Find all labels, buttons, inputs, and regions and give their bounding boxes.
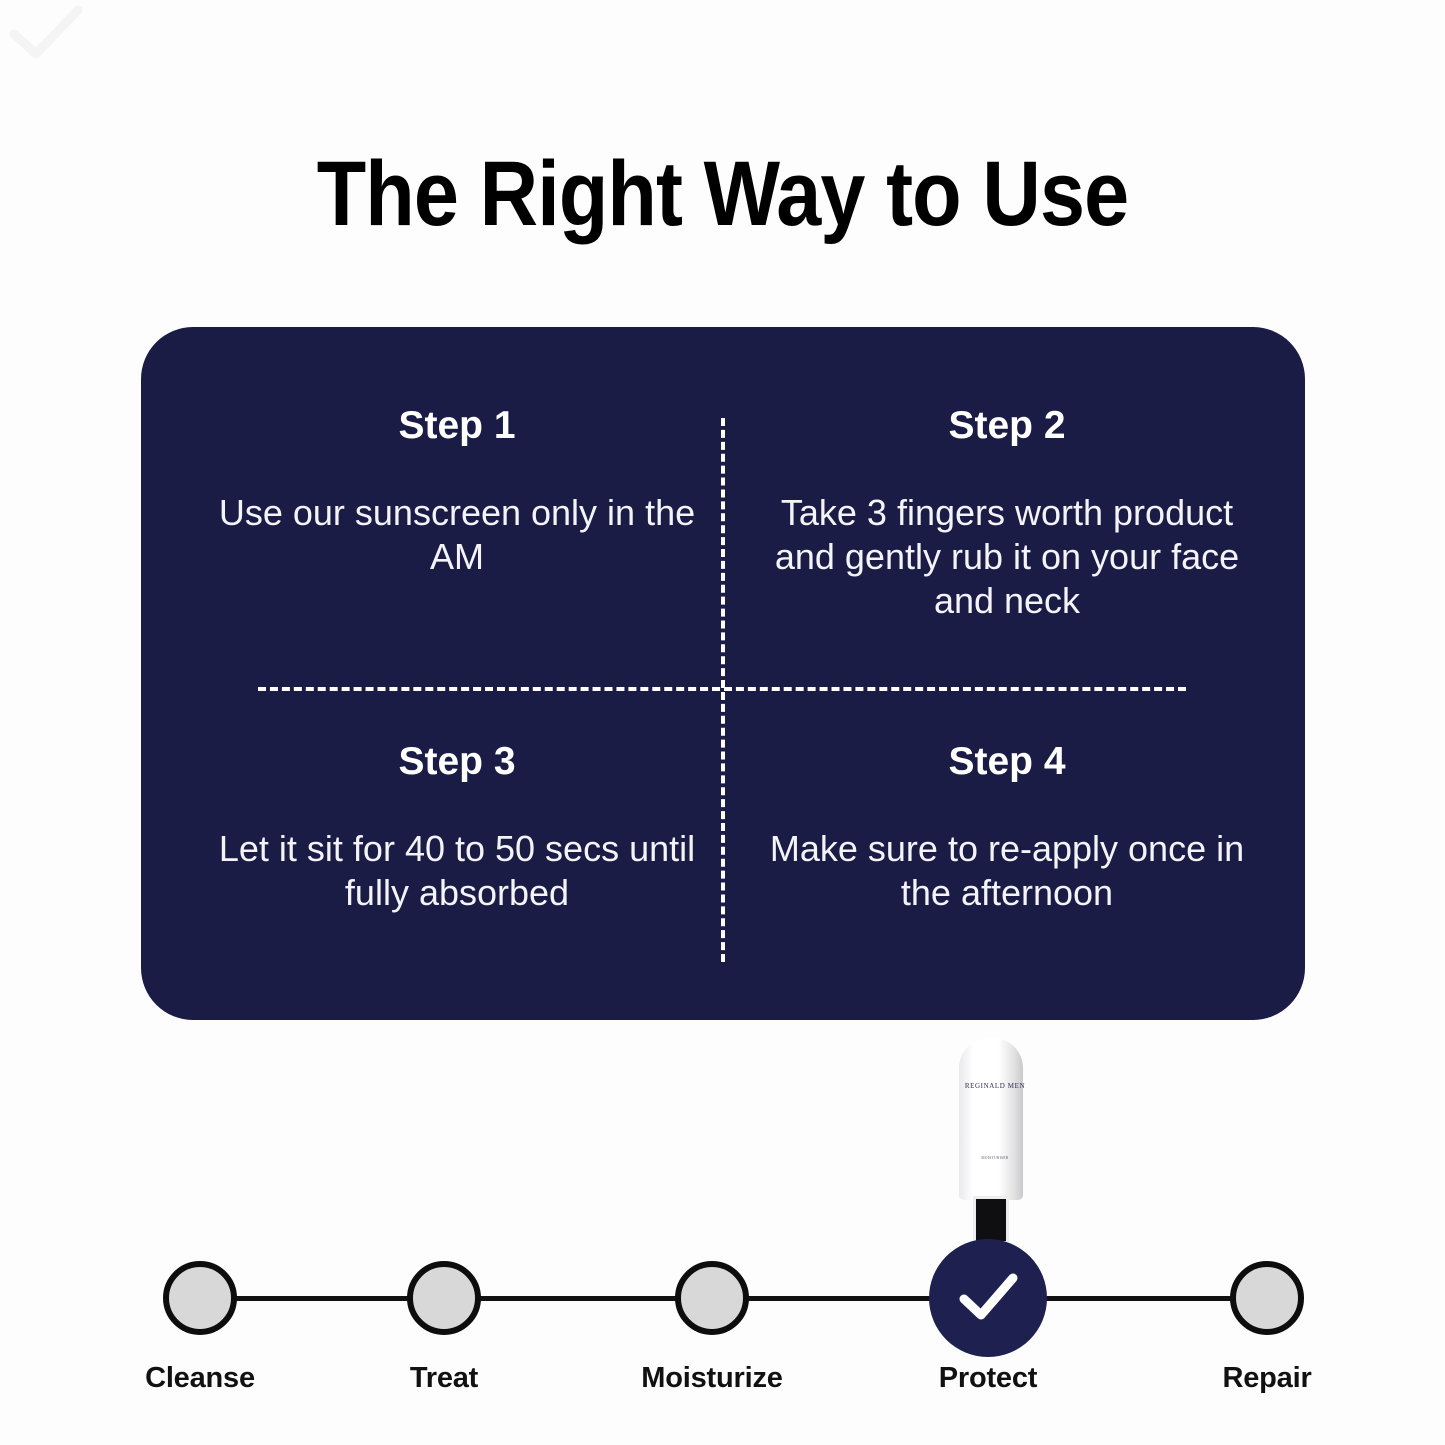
- step-2-body: Take 3 fingers worth product and gently …: [757, 491, 1257, 623]
- check-watermark-icon: [8, 4, 84, 66]
- tube-body: REGINALD MEN MOISTURISER: [959, 1038, 1023, 1200]
- routine-node-moisturize[interactable]: [675, 1261, 749, 1335]
- step-card-1: Step 1 Use our sunscreen only in the AM: [207, 403, 707, 579]
- routine-node-repair[interactable]: [1230, 1261, 1304, 1335]
- routine-label-moisturize: Moisturize: [562, 1362, 862, 1395]
- infographic-page: The Right Way to Use Step 1 Use our suns…: [0, 0, 1445, 1445]
- step-card-4: Step 4 Make sure to re-apply once in the…: [757, 739, 1257, 915]
- step-1-title: Step 1: [207, 403, 707, 449]
- routine-node-protect[interactable]: [929, 1239, 1047, 1357]
- check-icon: [955, 1270, 1021, 1326]
- routine-progress-bar: Cleanse Treat Moisturize Protect Repair: [0, 1250, 1445, 1420]
- step-4-title: Step 4: [757, 739, 1257, 785]
- step-card-2: Step 2 Take 3 fingers worth product and …: [757, 403, 1257, 623]
- product-tube-image: REGINALD MEN MOISTURISER: [955, 1038, 1027, 1238]
- routine-label-treat: Treat: [294, 1362, 594, 1395]
- step-3-body: Let it sit for 40 to 50 secs until fully…: [207, 827, 707, 915]
- routine-label-repair: Repair: [1117, 1362, 1417, 1395]
- horizontal-dashed-divider: [258, 687, 1186, 691]
- step-4-body: Make sure to re-apply once in the aftern…: [757, 827, 1257, 915]
- page-title: The Right Way to Use: [87, 144, 1359, 244]
- step-3-title: Step 3: [207, 739, 707, 785]
- step-1-body: Use our sunscreen only in the AM: [207, 491, 707, 579]
- tube-sub-label: MOISTURISER: [959, 1156, 1031, 1161]
- routine-node-cleanse[interactable]: [163, 1261, 237, 1335]
- step-card-3: Step 3 Let it sit for 40 to 50 secs unti…: [207, 739, 707, 915]
- tube-cap: [973, 1196, 1009, 1244]
- routine-label-protect: Protect: [838, 1362, 1138, 1395]
- tube-brand-label: REGINALD MEN: [959, 1082, 1031, 1091]
- routine-node-treat[interactable]: [407, 1261, 481, 1335]
- step-2-title: Step 2: [757, 403, 1257, 449]
